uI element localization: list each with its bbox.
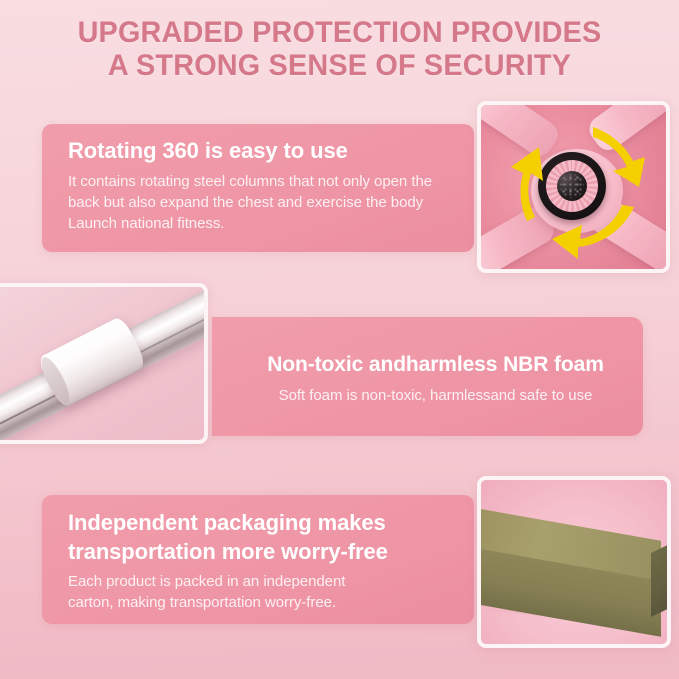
feature-heading-packaging-line1: Independent packaging makes (68, 510, 386, 535)
feature-heading-foam: Non-toxic andharmless NBR foam (246, 351, 625, 379)
feature-card-rotating: Rotating 360 is easy to use It contains … (42, 124, 474, 252)
feature-card-packaging: Independent packaging makes transportati… (42, 495, 474, 624)
page-title: UPGRADED PROTECTION PROVIDES A STRONG SE… (0, 16, 679, 82)
title-line-2: A STRONG SENSE OF SECURITY (52, 49, 627, 82)
feature-body-foam: Soft foam is non-toxic, harmlessand safe… (246, 385, 625, 407)
feature-heading-rotating: Rotating 360 is easy to use (68, 136, 454, 166)
infographic-poster: UPGRADED PROTECTION PROVIDES A STRONG SE… (0, 0, 679, 679)
feature-body-packaging-line2: carton, making transportation worry-free… (68, 594, 336, 611)
rotating-steel-hub-photo (477, 101, 670, 273)
hub-scene (481, 105, 666, 269)
feature-body-rotating: It contains rotating steel columns that … (68, 171, 454, 234)
feature-heading-packaging: Independent packaging makes transportati… (68, 508, 460, 566)
rotation-arrows-icon (491, 113, 661, 268)
foam-covered-steel-bar-photo (0, 283, 208, 444)
feature-heading-packaging-line2: transportation more worry-free (68, 539, 388, 564)
feature-body-packaging: Each product is packed in an independent… (68, 571, 460, 613)
feature-body-packaging-line1: Each product is packed in an independent (68, 573, 345, 590)
cardboard-carton-photo (477, 476, 671, 648)
carton-box (477, 508, 671, 626)
feature-card-foam: Non-toxic andharmless NBR foam Soft foam… (212, 317, 643, 436)
title-line-1: UPGRADED PROTECTION PROVIDES (52, 16, 627, 49)
